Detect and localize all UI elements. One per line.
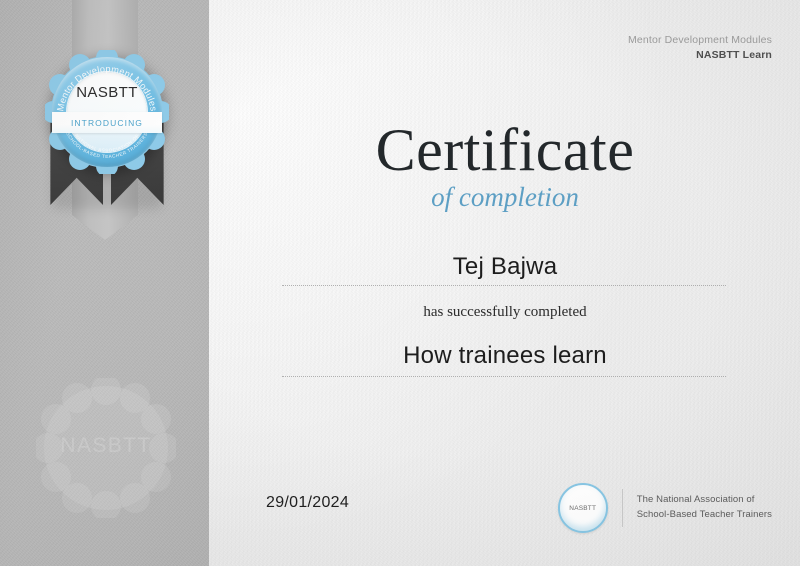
footer-seal-text: NASBTT (569, 505, 596, 512)
course-name-rule (282, 375, 726, 377)
watermark: NASBTT (36, 378, 176, 518)
page-title: Certificate (240, 116, 770, 185)
course-name: How trainees learn (240, 342, 770, 370)
issue-date: 29/01/2024 (266, 494, 349, 512)
footer-divider (622, 489, 623, 527)
recipient-name-rule (282, 284, 726, 286)
completion-statement: has successfully completed (240, 304, 770, 321)
badge-banner-text: INTRODUCING (71, 118, 143, 128)
nasbtt-seal-icon: NASBTT (558, 483, 608, 533)
header: Mentor Development Modules NASBTT Learn (628, 33, 772, 63)
header-program-label: Mentor Development Modules (628, 33, 772, 48)
footer-org-line2: School-Based Teacher Trainers (637, 508, 772, 523)
footer-org-line1: The National Association of (637, 493, 772, 508)
certificate-canvas: Mentor Development Modules NATIONAL ASSO… (0, 0, 800, 566)
footer-organisation: The National Association of School-Based… (637, 493, 772, 522)
badge-center-text: NASBTT (67, 84, 147, 101)
left-decorative-panel: Mentor Development Modules NATIONAL ASSO… (0, 0, 209, 566)
watermark-label: NASBTT (36, 434, 176, 458)
award-badge: Mentor Development Modules NATIONAL ASSO… (45, 50, 169, 174)
footer-logo: NASBTT The National Association of Schoo… (558, 483, 772, 533)
recipient-name: Tej Bajwa (240, 253, 770, 281)
badge-banner: INTRODUCING (52, 112, 162, 133)
header-platform-label: NASBTT Learn (628, 48, 772, 63)
page-subtitle: of completion (240, 182, 770, 213)
